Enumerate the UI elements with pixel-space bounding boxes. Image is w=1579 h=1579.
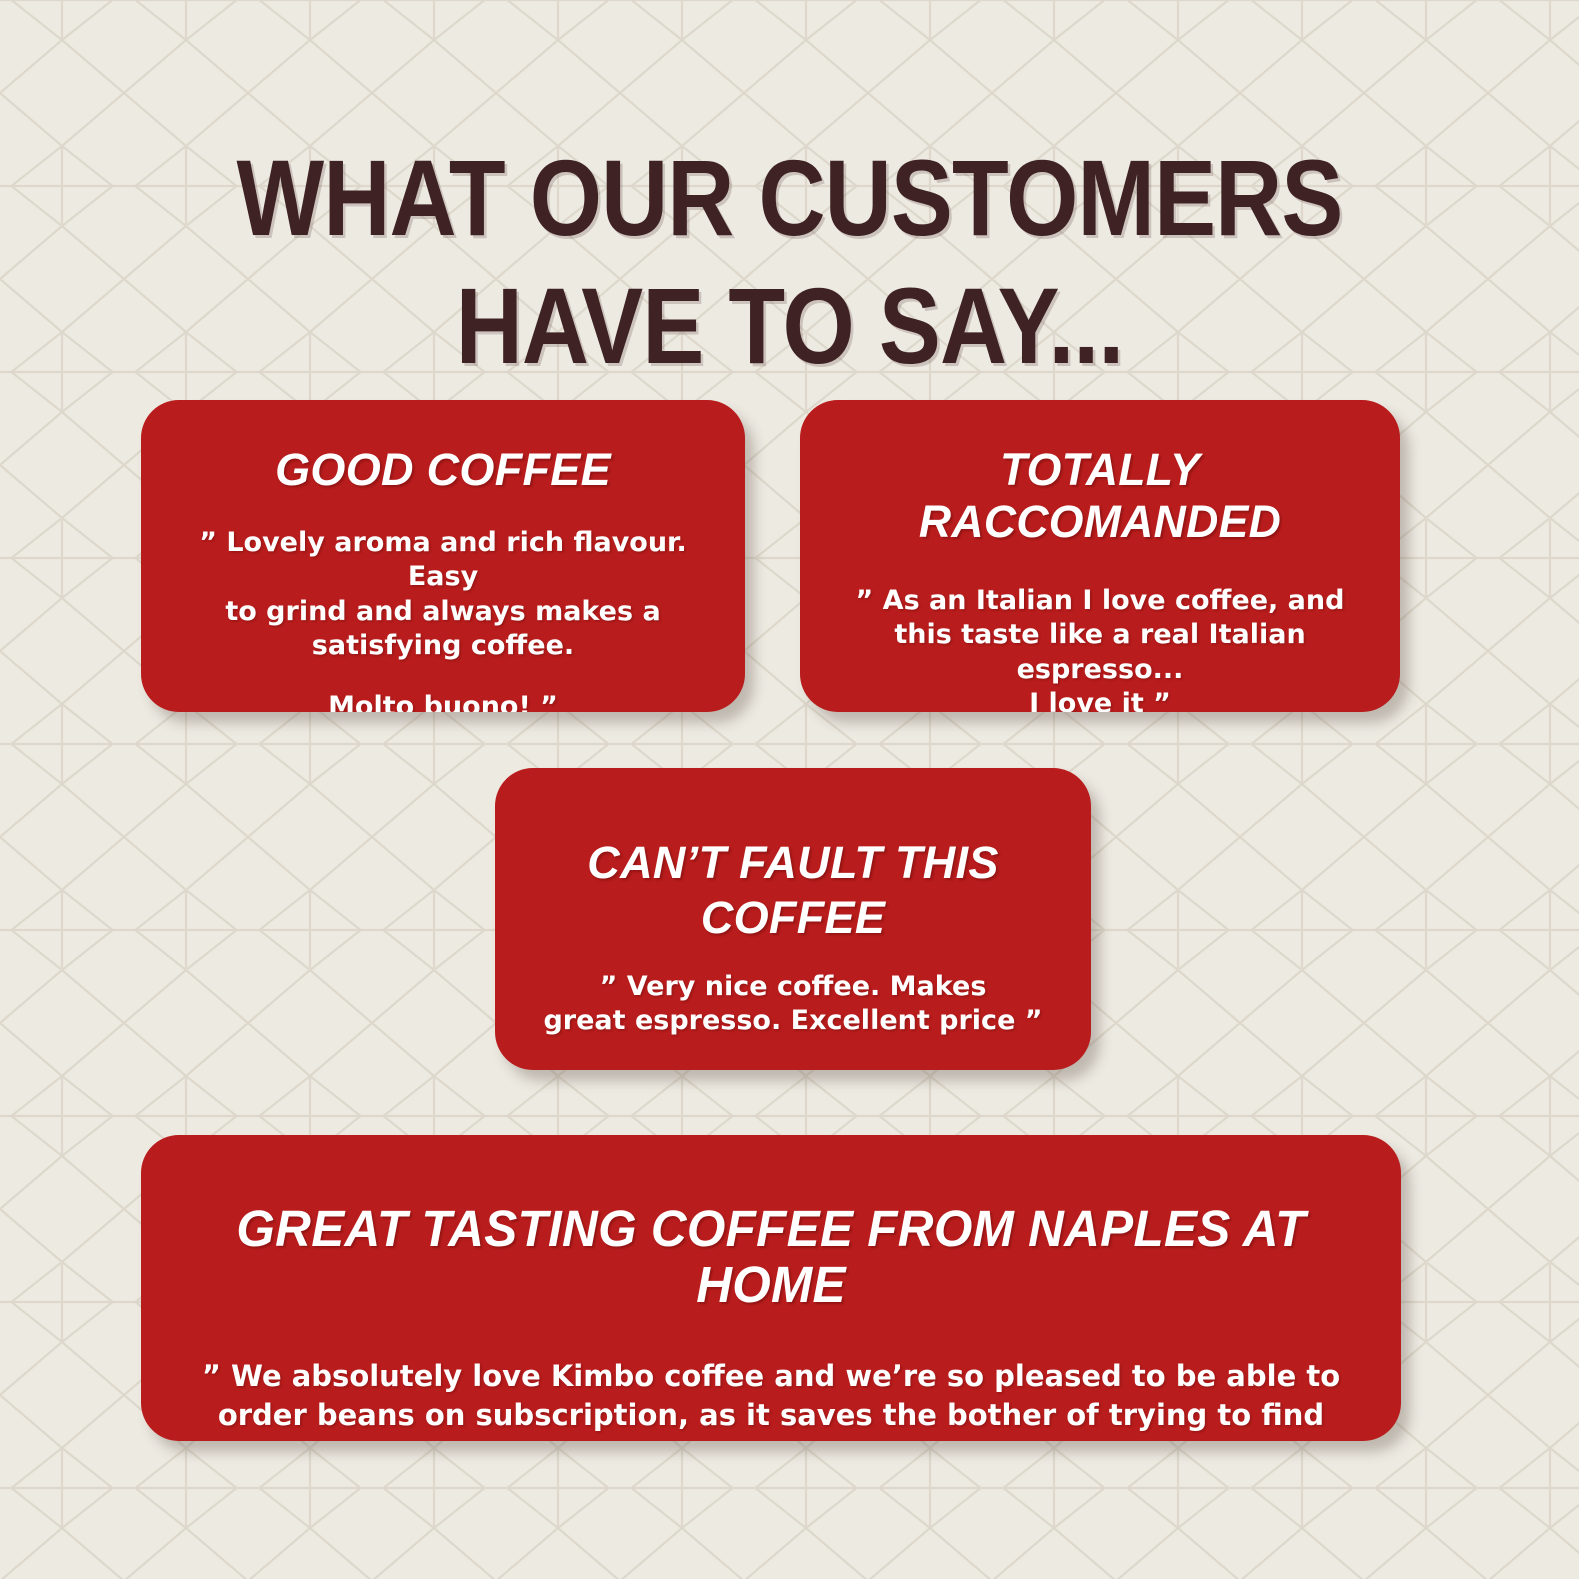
page-title: WHAT OUR CUSTOMERS HAVE TO SAY...	[111, 134, 1469, 389]
testimonial-title: CAN’T FAULT THIS COFFEE	[535, 836, 1051, 946]
testimonial-card-totally-raccomanded: TOTALLY RACCOMANDED ” As an Italian I lo…	[800, 400, 1400, 712]
testimonial-quote: ” Very nice coffee. Makes great espresso…	[535, 970, 1051, 1039]
testimonial-quote-secondary: Molto buono! ”	[175, 690, 711, 712]
testimonial-title: TOTALLY RACCOMANDED	[825, 444, 1375, 548]
testimonial-title: GREAT TASTING COFFEE FROM NAPLES AT HOME	[199, 1201, 1344, 1313]
testimonial-card-great-tasting: GREAT TASTING COFFEE FROM NAPLES AT HOME…	[141, 1135, 1401, 1441]
testimonial-quote: ” Lovely aroma and rich flavour. Easy to…	[175, 526, 711, 664]
testimonial-title: GOOD COFFEE	[175, 444, 711, 496]
testimonial-card-cant-fault: CAN’T FAULT THIS COFFEE ” Very nice coff…	[495, 768, 1091, 1070]
testimonial-card-good-coffee: GOOD COFFEE ” Lovely aroma and rich flav…	[141, 400, 745, 712]
testimonial-poster: WHAT OUR CUSTOMERS HAVE TO SAY... GOOD C…	[0, 0, 1579, 1579]
testimonial-quote: ” We absolutely love Kimbo coffee and we…	[181, 1357, 1361, 1441]
testimonial-quote: ” As an Italian I love coffee, and this …	[822, 584, 1378, 713]
